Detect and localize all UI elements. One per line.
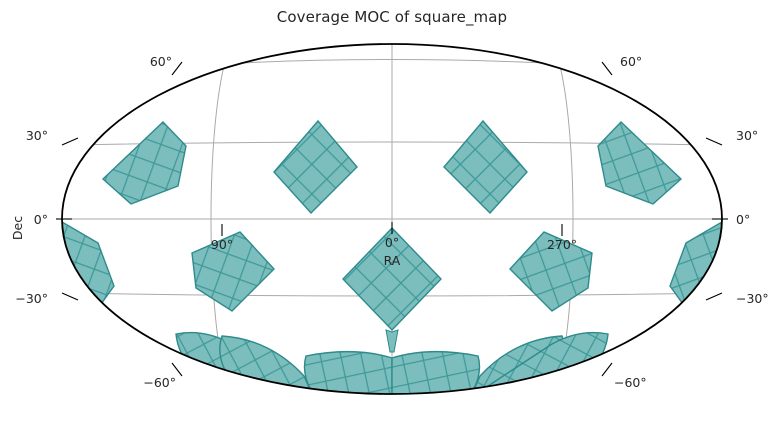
x-axis-label: RA — [384, 253, 401, 268]
ra-tick-labels: 90° 0° 270° — [211, 235, 577, 252]
tick-dec-60-topleft — [172, 62, 182, 75]
dec-tick-label: 30° — [736, 128, 758, 143]
tick-dec-60-topright — [602, 62, 612, 75]
coverage-patch — [274, 121, 357, 213]
dec-tick-label: 0° — [34, 212, 48, 227]
dec-tick-label: 60° — [620, 54, 642, 69]
coverage-patch — [103, 122, 186, 204]
ra-tick-label: 0° — [385, 235, 399, 250]
dec-tick-label: 60° — [150, 54, 172, 69]
tick-dec-30-right — [706, 138, 722, 145]
coverage-patch — [62, 222, 114, 311]
dec-tick-label: −60° — [614, 375, 647, 390]
tick-dec-m30-left — [62, 293, 78, 300]
coverage-patch — [444, 121, 527, 213]
coverage-patch — [220, 336, 312, 394]
dec-tick-label: −30° — [15, 291, 48, 306]
dec-tick-label: −30° — [736, 291, 769, 306]
coverage-patch — [670, 222, 722, 311]
page-title: Coverage MOC of square_map — [0, 8, 784, 26]
ra-tick-label: 90° — [211, 237, 233, 252]
coverage-patch — [598, 122, 681, 204]
y-axis-label: Dec — [10, 216, 25, 240]
tick-dec-30-left — [62, 138, 78, 145]
figure-canvas: Coverage MOC of square_map — [0, 0, 784, 427]
dec-tick-label: 0° — [736, 212, 750, 227]
aitoff-sky-plot: 30° 0° −30° 30° 0° −30° 60° 60° −60° −60… — [0, 0, 784, 427]
ra-tick-label: 270° — [547, 237, 577, 252]
coverage-patch — [386, 330, 398, 352]
tick-dec-m60-botright — [602, 363, 612, 376]
dec-tick-label: −60° — [143, 375, 176, 390]
dec-tick-label: 30° — [26, 128, 48, 143]
dec-tick-labels-right: 30° 0° −30° — [736, 128, 769, 306]
tick-dec-m30-right — [706, 293, 722, 300]
